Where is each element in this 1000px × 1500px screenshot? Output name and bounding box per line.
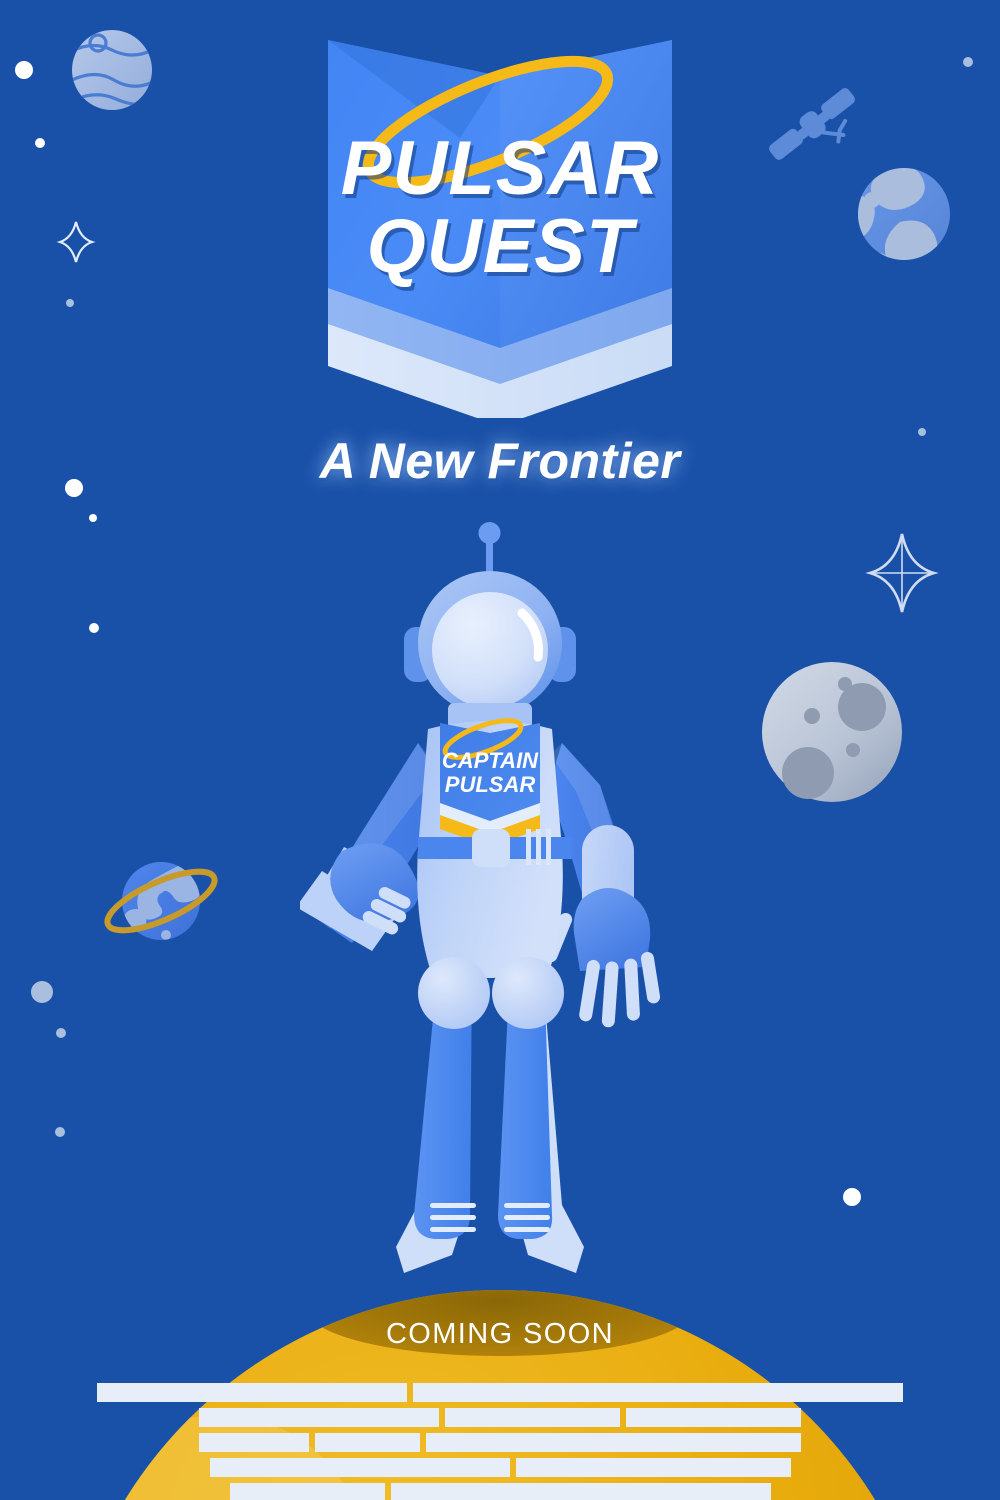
skeleton-bar xyxy=(199,1408,439,1427)
skeleton-row xyxy=(0,1383,1000,1402)
skeleton-bar xyxy=(315,1433,420,1452)
skeleton-row xyxy=(0,1433,1000,1452)
helmet-visor xyxy=(432,592,548,708)
skeleton-bar xyxy=(445,1408,620,1427)
star-dot xyxy=(89,623,99,633)
star-dot xyxy=(89,514,97,522)
sparkle-star-right xyxy=(870,534,934,612)
skeleton-row xyxy=(0,1408,1000,1427)
skeleton-bar xyxy=(97,1383,407,1402)
star-dot xyxy=(56,1028,66,1038)
astronaut-svg: CAPTAIN PULSAR xyxy=(300,515,700,1315)
skeleton-bar xyxy=(626,1408,801,1427)
knee-pad-right xyxy=(492,957,564,1029)
skeleton-row xyxy=(0,1483,1000,1500)
belt-buckle xyxy=(472,829,510,867)
skeleton-bar xyxy=(426,1433,801,1452)
ringed-planet xyxy=(100,860,221,942)
badge-line-1: CAPTAIN xyxy=(442,748,539,773)
crater-moon xyxy=(762,660,902,802)
knee-pad-left xyxy=(418,957,490,1029)
tagline: A New Frontier xyxy=(0,432,1000,490)
glove-open xyxy=(574,888,651,971)
skeleton-bar xyxy=(210,1458,510,1477)
star-dot xyxy=(55,1127,65,1137)
skeleton-bar xyxy=(413,1383,903,1402)
skeleton-bar xyxy=(230,1483,385,1500)
star-dot xyxy=(31,981,53,1003)
poster-canvas: PULSAR QUEST A New Frontier xyxy=(0,0,1000,1500)
leg-right xyxy=(492,957,584,1273)
logo-banner: PULSAR QUEST xyxy=(310,18,690,418)
star-dot xyxy=(843,1188,861,1206)
skeleton-bar xyxy=(516,1458,791,1477)
leg-left xyxy=(396,957,490,1273)
status-text: COMING SOON xyxy=(0,1318,1000,1351)
logo-block: PULSAR QUEST xyxy=(0,18,1000,418)
skeleton-bar xyxy=(199,1433,309,1452)
skeleton-placeholder-rows xyxy=(0,1383,1000,1500)
logo-title-line-2: QUEST xyxy=(310,211,690,283)
astronaut-figure: CAPTAIN PULSAR xyxy=(300,515,700,1315)
skeleton-row xyxy=(0,1458,1000,1477)
logo-title-line-1: PULSAR xyxy=(310,133,690,205)
skeleton-bar xyxy=(391,1483,771,1500)
badge-line-2: PULSAR xyxy=(445,772,536,797)
